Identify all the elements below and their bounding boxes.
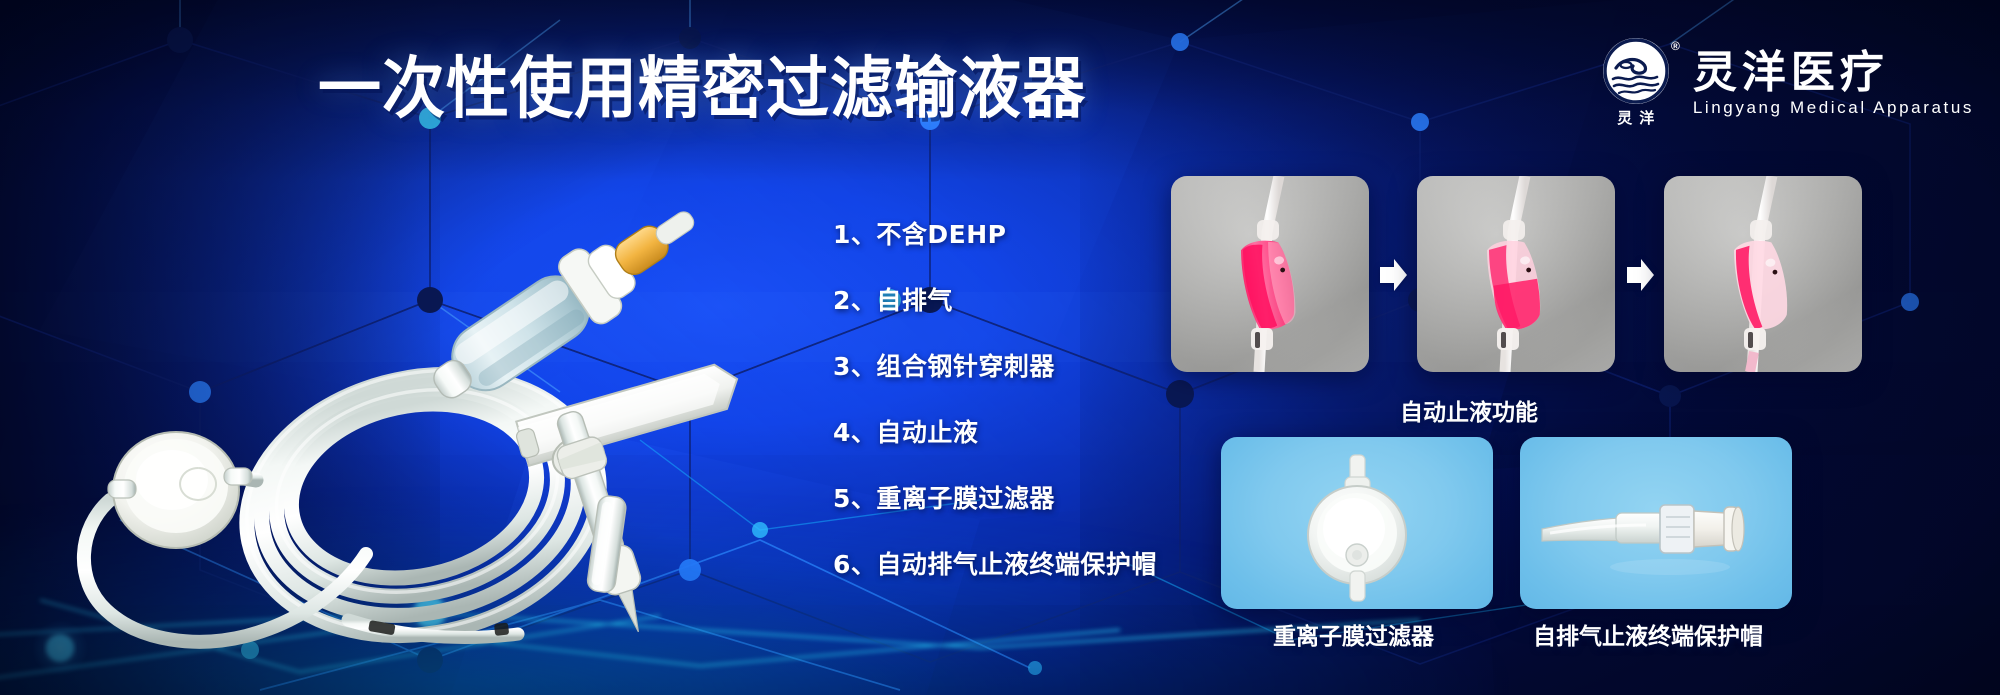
demo-frame-1: [1171, 176, 1369, 372]
product-banner: 一次性使用精密过滤输液器 ® 灵洋 灵洋医疗 Lingyang Medical …: [0, 0, 2000, 695]
wave-circle-logo-icon: [1603, 38, 1669, 104]
brand-name-cn: 灵洋医疗: [1693, 50, 1974, 96]
brand-text-block: 灵洋医疗 Lingyang Medical Apparatus: [1693, 50, 1974, 118]
detail-panel-filter: [1221, 437, 1493, 609]
feature-item-3: 3、组合钢针穿刺器: [833, 354, 1163, 379]
feature-list: 1、不含DEHP 2、自排气 3、组合钢针穿刺器 4、自动止液 5、重离子膜过滤…: [833, 222, 1163, 577]
detail-panel-cap: [1520, 437, 1792, 609]
brand-name-en: Lingyang Medical Apparatus: [1693, 98, 1974, 118]
brand-logo: ® 灵洋 灵洋医疗 Lingyang Medical Apparatus: [1597, 38, 1974, 130]
demo-sequence-caption: 自动止液功能: [1400, 393, 1538, 427]
banner-title-area: 一次性使用精密过滤输液器: [318, 44, 1038, 132]
detail-panel-cap-caption: 自排气止液终端保护帽: [1533, 617, 1763, 651]
logo-mark-block: ® 灵洋: [1597, 38, 1675, 130]
feature-item-5: 5、重离子膜过滤器: [833, 486, 1163, 511]
drip-chamber-full-icon: [1171, 176, 1369, 372]
page-title: 一次性使用精密过滤输液器: [318, 55, 1086, 122]
feature-item-2: 2、自排气: [833, 288, 1163, 313]
detail-panel-filter-caption: 重离子膜过滤器: [1273, 617, 1434, 651]
demo-frame-3: [1664, 176, 1862, 372]
arrow-right-icon-2: [1618, 250, 1662, 300]
drip-chamber-empty-icon: [1664, 176, 1862, 372]
registered-trademark-icon: ®: [1671, 40, 1680, 52]
round-filter-icon: [1221, 437, 1493, 609]
feature-item-4: 4、自动止液: [833, 420, 1163, 445]
demo-frame-2: [1417, 176, 1615, 372]
feature-item-6: 6、自动排气止液终端保护帽: [833, 552, 1163, 577]
feature-item-1: 1、不含DEHP: [833, 222, 1163, 247]
arrow-right-icon-1: [1371, 250, 1415, 300]
terminal-cap-icon: [1520, 437, 1792, 609]
product-photo: [48, 150, 808, 660]
drip-chamber-half-icon: [1417, 176, 1615, 372]
logo-mark-caption: 灵洋: [1610, 107, 1661, 128]
